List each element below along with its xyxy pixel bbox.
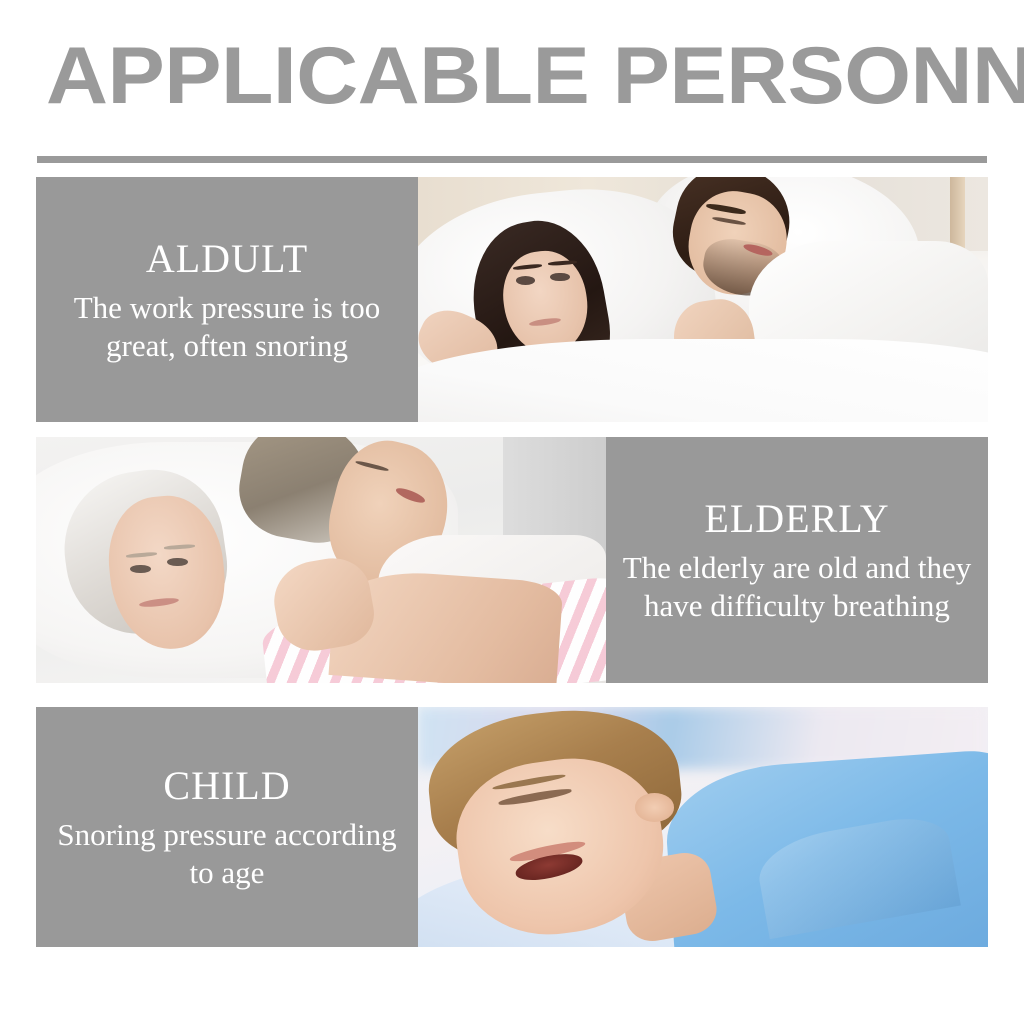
elderly-description: The elderly are old and they have diffic…: [618, 549, 976, 625]
duvet: [418, 339, 988, 422]
adult-title: ALDULT: [48, 235, 406, 283]
child-title: CHILD: [48, 762, 406, 810]
child-description: Snoring pressure according to age: [48, 816, 406, 892]
child-text-panel: CHILD Snoring pressure according to age: [36, 707, 418, 947]
section-child: CHILD Snoring pressure according to age: [36, 707, 988, 947]
page-title: APPLICABLE PERSONNEL: [46, 34, 1024, 118]
adult-text-panel: ALDULT The work pressure is too great, o…: [36, 177, 418, 422]
photo-child-sleeping: [418, 707, 988, 947]
photo-elderly-couple-snoring: [36, 437, 606, 683]
adult-description: The work pressure is too great, often sn…: [48, 289, 406, 365]
header: APPLICABLE PERSONNEL: [0, 34, 1024, 134]
title-underline: [37, 156, 987, 163]
poster-root: APPLICABLE PERSONNEL ALDULT The work pre…: [0, 0, 1024, 1024]
elderly-text-panel: ELDERLY The elderly are old and they hav…: [606, 437, 988, 683]
photo-adult-couple-snoring: [418, 177, 988, 422]
woman-eye-left: [130, 565, 151, 573]
elderly-title: ELDERLY: [618, 495, 976, 543]
section-elderly: ELDERLY The elderly are old and they hav…: [36, 437, 988, 683]
woman-eye-right: [550, 273, 569, 282]
section-adult: ALDULT The work pressure is too great, o…: [36, 177, 988, 422]
woman-eye-right: [167, 558, 188, 566]
